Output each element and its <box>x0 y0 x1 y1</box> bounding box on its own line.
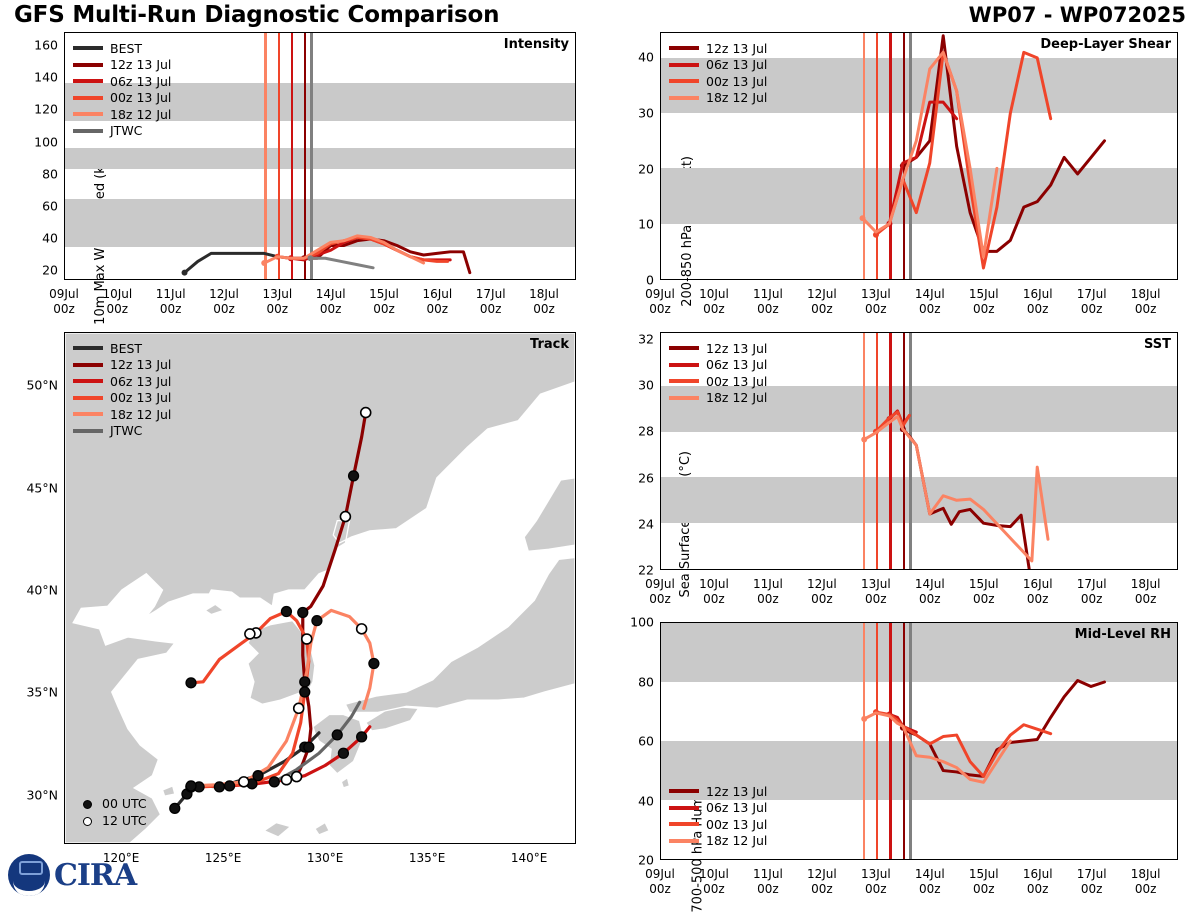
landmass-kyushu <box>313 715 364 774</box>
x-tick-mark <box>714 859 715 860</box>
x-tick-mark <box>875 569 876 570</box>
lon-tick-mark <box>426 843 427 844</box>
y-tick-label: 24 <box>638 516 654 531</box>
x-tick-mark <box>277 279 278 280</box>
series-line-06z-13-jul <box>291 237 450 259</box>
x-tick-label: 13Jul00z <box>262 287 292 317</box>
x-tick-label: 18Jul00z <box>529 287 559 317</box>
x-tick-minor <box>1063 569 1064 570</box>
x-tick-label: 15Jul00z <box>369 287 399 317</box>
open-circle-icon <box>77 811 97 830</box>
sst-title: SST <box>1144 337 1171 352</box>
legend-swatch <box>669 396 699 400</box>
x-tick-day: 13Jul <box>262 287 292 302</box>
x-tick-minor <box>674 279 675 280</box>
x-tick-minor <box>727 859 728 860</box>
x-tick-day: 15Jul <box>969 867 999 882</box>
x-tick-mark <box>929 569 930 570</box>
intensity-title: Intensity <box>504 37 569 52</box>
lat-tick-label: 50°N <box>26 378 58 393</box>
x-tick-minor <box>569 279 570 280</box>
landmass-island-b <box>315 823 329 835</box>
x-tick-mark <box>117 279 118 280</box>
lat-tick-mark <box>64 487 65 488</box>
x-tick-label: 09Jul00z <box>645 287 675 317</box>
y-tick-label: 80 <box>42 166 58 181</box>
x-tick-label: 13Jul00z <box>861 287 891 317</box>
intensity-legend: BEST12z 13 Jul06z 13 Jul00z 13 Jul18z 12… <box>73 40 171 139</box>
x-tick-hour: 00z <box>529 302 559 317</box>
legend-swatch <box>669 839 699 843</box>
legend-item-00z-13-jul: 00z 13 Jul <box>669 816 767 833</box>
x-tick-minor <box>687 859 688 860</box>
x-tick-minor <box>902 859 903 860</box>
legend-label: 12z 13 Jul <box>706 41 767 56</box>
x-tick-mark <box>436 279 437 280</box>
sst-legend: 12z 13 Jul06z 13 Jul00z 13 Jul18z 12 Jul <box>669 340 767 406</box>
x-tick-day: 17Jul <box>476 287 506 302</box>
x-tick-day: 09Jul <box>645 867 675 882</box>
y-tick-label: 26 <box>638 470 654 485</box>
x-tick-minor <box>889 859 890 860</box>
legend-item-12z-13-jul: 12z 13 Jul <box>669 340 767 357</box>
legend-item-06z-13-jul: 06z 13 Jul <box>669 357 767 374</box>
x-tick-mark <box>64 279 65 280</box>
y-tick-label: 0 <box>646 273 654 288</box>
shear-title: Deep-Layer Shear <box>1040 37 1171 52</box>
x-tick-minor <box>1131 569 1132 570</box>
x-tick-minor <box>942 569 943 570</box>
x-tick-hour: 00z <box>861 592 891 607</box>
x-tick-minor <box>1010 859 1011 860</box>
legend-swatch <box>73 396 103 400</box>
x-tick-minor <box>701 569 702 570</box>
x-tick-minor <box>889 569 890 570</box>
legend-label: 12z 13 Jul <box>706 341 767 356</box>
x-tick-minor <box>754 859 755 860</box>
x-tick-minor <box>516 279 517 280</box>
x-tick-minor <box>1171 569 1172 570</box>
x-tick-label: 11Jul00z <box>753 287 783 317</box>
x-tick-minor <box>916 859 917 860</box>
x-tick-minor <box>1157 279 1158 280</box>
x-tick-minor <box>1171 859 1172 860</box>
legend-item-jtwc: JTWC <box>73 123 171 140</box>
x-tick-minor <box>754 279 755 280</box>
x-tick-minor <box>916 279 917 280</box>
x-tick-minor <box>1131 859 1132 860</box>
x-tick-label: 18Jul00z <box>1131 287 1161 317</box>
x-tick-minor <box>848 279 849 280</box>
lat-tick-label: 35°N <box>26 685 58 700</box>
x-tick-label: 09Jul00z <box>49 287 79 317</box>
x-tick-mark <box>330 279 331 280</box>
x-tick-day: 12Jul <box>807 867 837 882</box>
x-tick-minor <box>1131 279 1132 280</box>
logo-group: CIRA <box>8 854 136 896</box>
legend-label: 18z 12 Jul <box>706 390 767 405</box>
legend-item-12z-13-jul: 12z 13 Jul <box>669 40 767 57</box>
legend-swatch <box>669 96 699 100</box>
x-tick-minor <box>808 569 809 570</box>
x-tick-mark <box>822 279 823 280</box>
x-tick-label: 17Jul00z <box>476 287 506 317</box>
legend-swatch <box>669 346 699 350</box>
legend-item-18z-12-jul: 18z 12 Jul <box>73 406 171 423</box>
x-tick-day: 16Jul <box>1023 577 1053 592</box>
legend-label: 12z 13 Jul <box>110 357 171 372</box>
x-tick-label: 18Jul00z <box>1131 867 1161 897</box>
x-tick-minor <box>1171 279 1172 280</box>
x-tick-minor <box>835 859 836 860</box>
x-tick-hour: 00z <box>915 302 945 317</box>
x-tick-minor <box>1023 279 1024 280</box>
x-tick-minor <box>781 279 782 280</box>
x-tick-mark <box>768 279 769 280</box>
x-tick-day: 10Jul <box>699 577 729 592</box>
panel-intensity: Intensity BEST12z 13 Jul06z 13 Jul00z 13… <box>64 32 576 280</box>
x-tick-label: 17Jul00z <box>1077 577 1107 607</box>
legend-item-18z-12-jul: 18z 12 Jul <box>669 90 767 107</box>
legend-swatch <box>669 806 699 810</box>
sst-plot-area: SST 12z 13 Jul06z 13 Jul00z 13 Jul18z 12… <box>660 332 1178 570</box>
x-tick-label: 12Jul00z <box>807 867 837 897</box>
x-tick-minor <box>889 279 890 280</box>
landmass-island-e <box>205 604 223 614</box>
lat-tick-mark <box>64 691 65 692</box>
panel-rh: Mid-Level RH 12z 13 Jul06z 13 Jul00z 13 … <box>660 622 1178 860</box>
x-tick-minor <box>862 569 863 570</box>
y-tick-label: 80 <box>638 674 654 689</box>
x-tick-label: 12Jul00z <box>807 577 837 607</box>
x-tick-day: 10Jul <box>699 287 729 302</box>
x-tick-day: 12Jul <box>807 287 837 302</box>
track-marker-filled <box>357 732 367 742</box>
x-tick-day: 18Jul <box>1131 287 1161 302</box>
x-tick-label: 16Jul00z <box>422 287 452 317</box>
x-tick-label: 15Jul00z <box>969 577 999 607</box>
y-tick-label: 60 <box>42 198 58 213</box>
x-tick-hour: 00z <box>861 302 891 317</box>
track-marker-open <box>281 775 291 785</box>
x-tick-hour: 00z <box>807 882 837 897</box>
x-tick-minor <box>1077 569 1078 570</box>
shear-legend: 12z 13 Jul06z 13 Jul00z 13 Jul18z 12 Jul <box>669 40 767 106</box>
x-tick-minor <box>862 279 863 280</box>
x-tick-minor <box>969 279 970 280</box>
legend-swatch <box>73 46 103 50</box>
x-tick-minor <box>701 279 702 280</box>
y-tick-label: 30 <box>638 105 654 120</box>
legend-item-jtwc: JTWC <box>73 423 171 440</box>
x-tick-mark <box>1037 279 1038 280</box>
legend-swatch <box>669 363 699 367</box>
x-tick-minor <box>356 279 357 280</box>
lat-tick-label: 40°N <box>26 583 58 598</box>
legend-item-12z-13-jul: 12z 13 Jul <box>73 57 171 74</box>
x-tick-day: 09Jul <box>49 287 79 302</box>
x-tick-label: 14Jul00z <box>915 287 945 317</box>
x-tick-label: 14Jul00z <box>915 577 945 607</box>
track-marker-legend: 00 UTC12 UTC <box>77 795 147 829</box>
x-tick-hour: 00z <box>1077 882 1107 897</box>
track-plot-area[interactable]: Track BEST12z 13 Jul06z 13 Jul00z 13 Jul… <box>64 332 576 844</box>
x-tick-hour: 00z <box>915 592 945 607</box>
x-tick-minor <box>727 279 728 280</box>
y-tick-label: 140 <box>34 70 58 85</box>
x-tick-minor <box>1104 279 1105 280</box>
lat-tick-label: 30°N <box>26 787 58 802</box>
x-tick-mark <box>1037 859 1038 860</box>
x-tick-mark <box>822 569 823 570</box>
marker-legend-label: 12 UTC <box>102 813 147 828</box>
panel-track: Track BEST12z 13 Jul06z 13 Jul00z 13 Jul… <box>64 332 576 844</box>
shear-plot-area: Deep-Layer Shear 12z 13 Jul06z 13 Jul00z… <box>660 32 1178 280</box>
x-tick-mark <box>660 279 661 280</box>
x-tick-minor <box>250 279 251 280</box>
x-tick-day: 18Jul <box>529 287 559 302</box>
x-tick-mark <box>929 859 930 860</box>
x-tick-minor <box>754 569 755 570</box>
x-tick-hour: 00z <box>753 592 783 607</box>
x-tick-label: 09Jul00z <box>645 577 675 607</box>
lat-tick-mark <box>64 793 65 794</box>
track-marker-filled <box>304 742 314 752</box>
x-tick-day: 15Jul <box>969 287 999 302</box>
track-marker-filled <box>338 748 348 758</box>
track-marker-filled <box>170 803 180 813</box>
x-tick-minor <box>835 279 836 280</box>
series-start-marker <box>861 716 867 722</box>
x-tick-label: 16Jul00z <box>1023 287 1053 317</box>
legend-swatch <box>73 79 103 83</box>
track-marker-open <box>245 629 255 639</box>
legend-label: 06z 13 Jul <box>706 357 767 372</box>
x-tick-minor <box>1063 279 1064 280</box>
x-tick-day: 13Jul <box>861 577 891 592</box>
legend-label: BEST <box>110 341 142 356</box>
x-tick-minor <box>956 569 957 570</box>
x-tick-label: 14Jul00z <box>316 287 346 317</box>
legend-label: 00z 13 Jul <box>706 817 767 832</box>
x-tick-mark <box>171 279 172 280</box>
x-tick-minor <box>1010 569 1011 570</box>
legend-swatch <box>73 112 103 116</box>
x-tick-label: 16Jul00z <box>1023 867 1053 897</box>
x-tick-minor <box>449 279 450 280</box>
storm-title: WP07 - WP072025 <box>969 3 1186 27</box>
x-tick-minor <box>996 279 997 280</box>
x-tick-minor <box>78 279 79 280</box>
x-tick-minor <box>396 279 397 280</box>
track-marker-open <box>357 624 367 634</box>
track-marker-filled <box>300 677 310 687</box>
track-marker-filled <box>298 608 308 618</box>
track-marker-filled <box>214 782 224 792</box>
y-tick-label: 20 <box>638 161 654 176</box>
y-tick-label: 22 <box>638 563 654 578</box>
x-tick-label: 15Jul00z <box>969 287 999 317</box>
x-tick-day: 11Jul <box>753 577 783 592</box>
x-tick-mark <box>542 279 543 280</box>
x-tick-day: 16Jul <box>422 287 452 302</box>
legend-label: BEST <box>110 41 142 56</box>
legend-label: 18z 12 Jul <box>706 833 767 848</box>
legend-swatch <box>669 822 699 826</box>
y-tick-label: 160 <box>34 37 58 52</box>
x-tick-minor <box>144 279 145 280</box>
x-tick-minor <box>795 859 796 860</box>
page-title: GFS Multi-Run Diagnostic Comparison <box>14 2 499 28</box>
x-tick-minor <box>741 279 742 280</box>
track-marker-filled <box>269 777 279 787</box>
x-tick-label: 15Jul00z <box>969 867 999 897</box>
x-tick-minor <box>1063 859 1064 860</box>
x-tick-day: 11Jul <box>753 287 783 302</box>
x-tick-minor <box>343 279 344 280</box>
x-tick-hour: 00z <box>1077 302 1107 317</box>
x-tick-mark <box>983 279 984 280</box>
x-tick-minor <box>1050 279 1051 280</box>
series-line-00z-13-jul <box>876 712 1051 776</box>
x-tick-label: 11Jul00z <box>753 577 783 607</box>
x-tick-minor <box>1010 279 1011 280</box>
x-tick-minor <box>781 859 782 860</box>
x-tick-minor <box>1117 859 1118 860</box>
landmass-island-c <box>264 823 290 837</box>
legend-swatch <box>73 363 103 367</box>
legend-label: 12z 13 Jul <box>706 784 767 799</box>
x-tick-minor <box>370 279 371 280</box>
x-tick-day: 17Jul <box>1077 867 1107 882</box>
y-tick-label: 40 <box>42 231 58 246</box>
noaa-logo-icon <box>8 854 50 896</box>
x-tick-hour: 00z <box>645 302 675 317</box>
track-marker-open <box>302 634 312 644</box>
x-tick-hour: 00z <box>369 302 399 317</box>
x-tick-minor <box>795 569 796 570</box>
legend-swatch <box>73 63 103 67</box>
x-tick-hour: 00z <box>316 302 346 317</box>
x-tick-minor <box>1117 569 1118 570</box>
x-tick-minor <box>184 279 185 280</box>
x-tick-mark <box>1090 859 1091 860</box>
x-tick-hour: 00z <box>1023 302 1053 317</box>
x-tick-hour: 00z <box>262 302 292 317</box>
landmass-honshu <box>345 557 575 712</box>
series-line-jtwc <box>310 258 373 268</box>
x-tick-minor <box>476 279 477 280</box>
x-tick-minor <box>529 279 530 280</box>
x-tick-mark <box>1144 279 1145 280</box>
x-tick-day: 13Jul <box>861 867 891 882</box>
x-tick-label: 17Jul00z <box>1077 867 1107 897</box>
legend-label: 00z 13 Jul <box>110 90 171 105</box>
y-tick-label: 30 <box>638 378 654 393</box>
x-tick-minor <box>741 569 742 570</box>
x-tick-hour: 00z <box>969 302 999 317</box>
lon-tick-mark <box>223 843 224 844</box>
x-tick-day: 11Jul <box>156 287 186 302</box>
lon-tick-mark <box>121 843 122 844</box>
lon-tick-label: 125°E <box>205 851 242 866</box>
y-tick-label: 100 <box>34 134 58 149</box>
x-tick-minor <box>835 569 836 570</box>
marker-legend-label: 00 UTC <box>102 796 147 811</box>
x-tick-mark <box>875 859 876 860</box>
x-tick-label: 12Jul00z <box>209 287 239 317</box>
track-marker-filled <box>312 616 322 626</box>
x-tick-day: 15Jul <box>969 577 999 592</box>
x-tick-hour: 00z <box>699 302 729 317</box>
x-tick-minor <box>942 279 943 280</box>
x-tick-mark <box>1144 859 1145 860</box>
x-tick-minor <box>237 279 238 280</box>
track-marker-open <box>239 777 249 787</box>
legend-label: 06z 13 Jul <box>706 800 767 815</box>
series-line-18z-12-jul <box>264 236 423 263</box>
x-tick-minor <box>956 859 957 860</box>
y-tick-label: 40 <box>638 50 654 65</box>
x-tick-minor <box>210 279 211 280</box>
lat-tick-label: 45°N <box>26 480 58 495</box>
y-tick-label: 20 <box>638 853 654 868</box>
lon-tick-label: 140°E <box>511 851 548 866</box>
x-tick-hour: 00z <box>1023 882 1053 897</box>
x-tick-minor <box>463 279 464 280</box>
x-tick-minor <box>1050 859 1051 860</box>
x-tick-day: 12Jul <box>807 577 837 592</box>
legend-item-18z-12-jul: 18z 12 Jul <box>669 833 767 850</box>
x-tick-day: 15Jul <box>369 287 399 302</box>
legend-label: JTWC <box>110 123 142 138</box>
legend-swatch <box>669 79 699 83</box>
x-tick-minor <box>848 569 849 570</box>
legend-item-18z-12-jul: 18z 12 Jul <box>669 390 767 407</box>
x-tick-hour: 00z <box>156 302 186 317</box>
x-tick-day: 18Jul <box>1131 867 1161 882</box>
legend-swatch <box>73 429 103 433</box>
x-tick-mark <box>714 569 715 570</box>
legend-label: 18z 12 Jul <box>706 90 767 105</box>
x-tick-minor <box>1077 859 1078 860</box>
legend-label: 18z 12 Jul <box>110 407 171 422</box>
y-tick-label: 32 <box>638 331 654 346</box>
legend-item-00z-13-jul: 00z 13 Jul <box>73 90 171 107</box>
y-tick-label: 20 <box>42 263 58 278</box>
marker-legend-item: 12 UTC <box>77 812 147 829</box>
x-tick-minor <box>303 279 304 280</box>
x-tick-minor <box>916 569 917 570</box>
legend-swatch <box>73 129 103 133</box>
rh-title: Mid-Level RH <box>1075 627 1171 642</box>
x-tick-mark <box>1090 279 1091 280</box>
x-tick-minor <box>942 859 943 860</box>
x-tick-minor <box>902 569 903 570</box>
series-line-18z-12-jul <box>864 417 1048 561</box>
x-tick-mark <box>489 279 490 280</box>
y-tick-label: 28 <box>638 424 654 439</box>
x-tick-mark <box>768 859 769 860</box>
x-tick-day: 09Jul <box>645 287 675 302</box>
x-tick-minor <box>969 859 970 860</box>
x-tick-label: 17Jul00z <box>1077 287 1107 317</box>
x-tick-minor <box>848 859 849 860</box>
x-tick-day: 11Jul <box>753 867 783 882</box>
y-tick-label: 60 <box>638 734 654 749</box>
x-tick-minor <box>969 569 970 570</box>
legend-item-best: BEST <box>73 340 171 357</box>
